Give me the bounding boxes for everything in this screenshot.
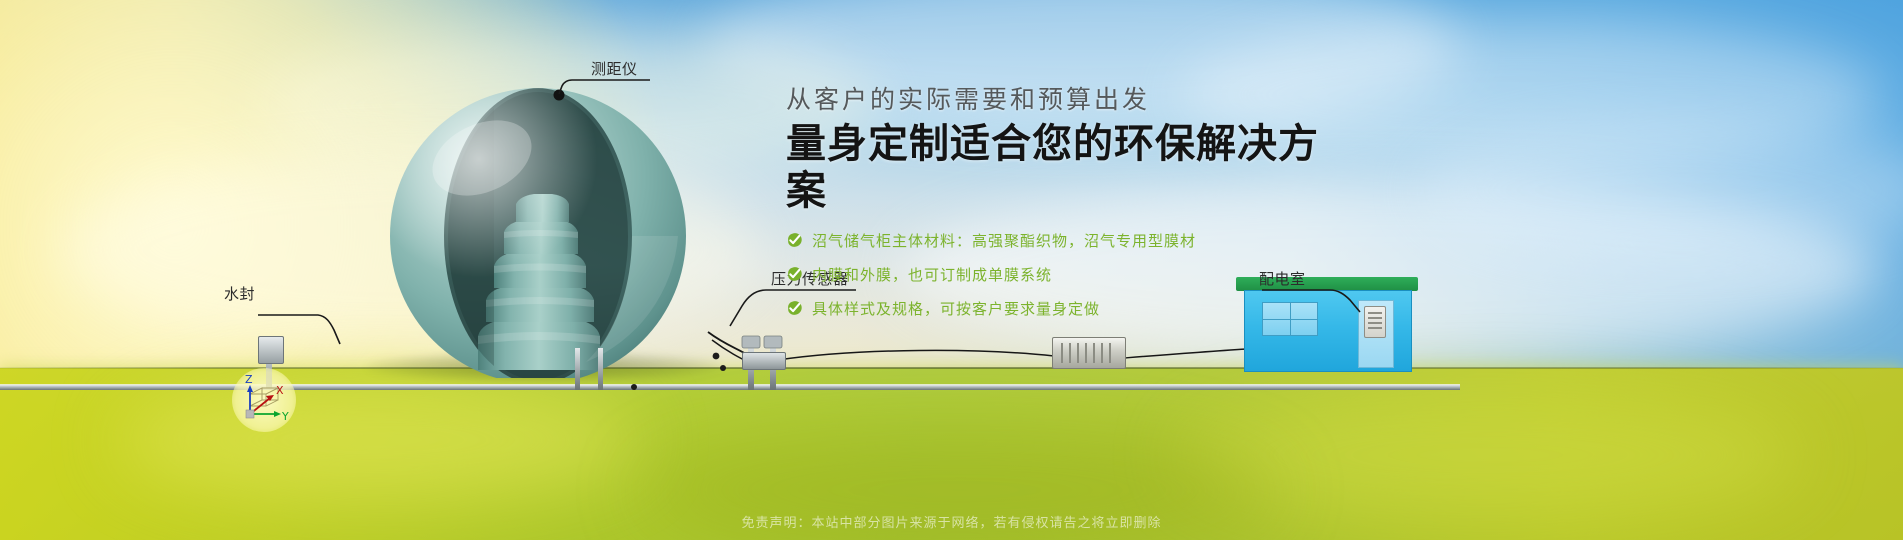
hero-banner: 测距仪 水封 压力传感器 配电室 Z Y X 从客户的实际需要和预算出发 [0,0,1903,540]
axis-orientation-badge: Z Y X [232,368,296,432]
list-item-label: 内膜和外膜，也可订制成单膜系统 [812,264,1052,285]
list-item: 沼气储气柜主体材料：高强聚酯织物，沼气专用型膜材 [786,230,1346,251]
list-item-label: 具体样式及规格，可按客户要求量身定做 [812,298,1100,319]
axis-x-label: X [276,384,284,397]
label-water-seal: 水封 [224,283,255,304]
disclaimer-text: 免责声明：本站中部分图片来源于网络，若有侵权请告之将立即删除 [0,512,1903,531]
check-badge-icon [786,300,803,317]
check-badge-icon [786,232,803,249]
check-badge-icon [786,266,803,283]
marketing-copy: 从客户的实际需要和预算出发 量身定制适合您的环保解决方案 沼气储气柜主体材料：高… [786,84,1346,332]
copy-headline: 量身定制适合您的环保解决方案 [786,121,1346,214]
copy-subtitle: 从客户的实际需要和预算出发 [786,84,1346,115]
list-item-label: 沼气储气柜主体材料：高强聚酯织物，沼气专用型膜材 [812,230,1196,251]
label-rangefinder: 测距仪 [591,58,638,79]
axis-y-label: Y [281,410,289,423]
feature-bullet-list: 沼气储气柜主体材料：高强聚酯织物，沼气专用型膜材 内膜和外膜，也可订制成单膜系统 [786,230,1346,319]
list-item: 具体样式及规格，可按客户要求量身定做 [786,298,1346,319]
list-item: 内膜和外膜，也可订制成单膜系统 [786,264,1346,285]
axis-z-label: Z [245,373,253,386]
